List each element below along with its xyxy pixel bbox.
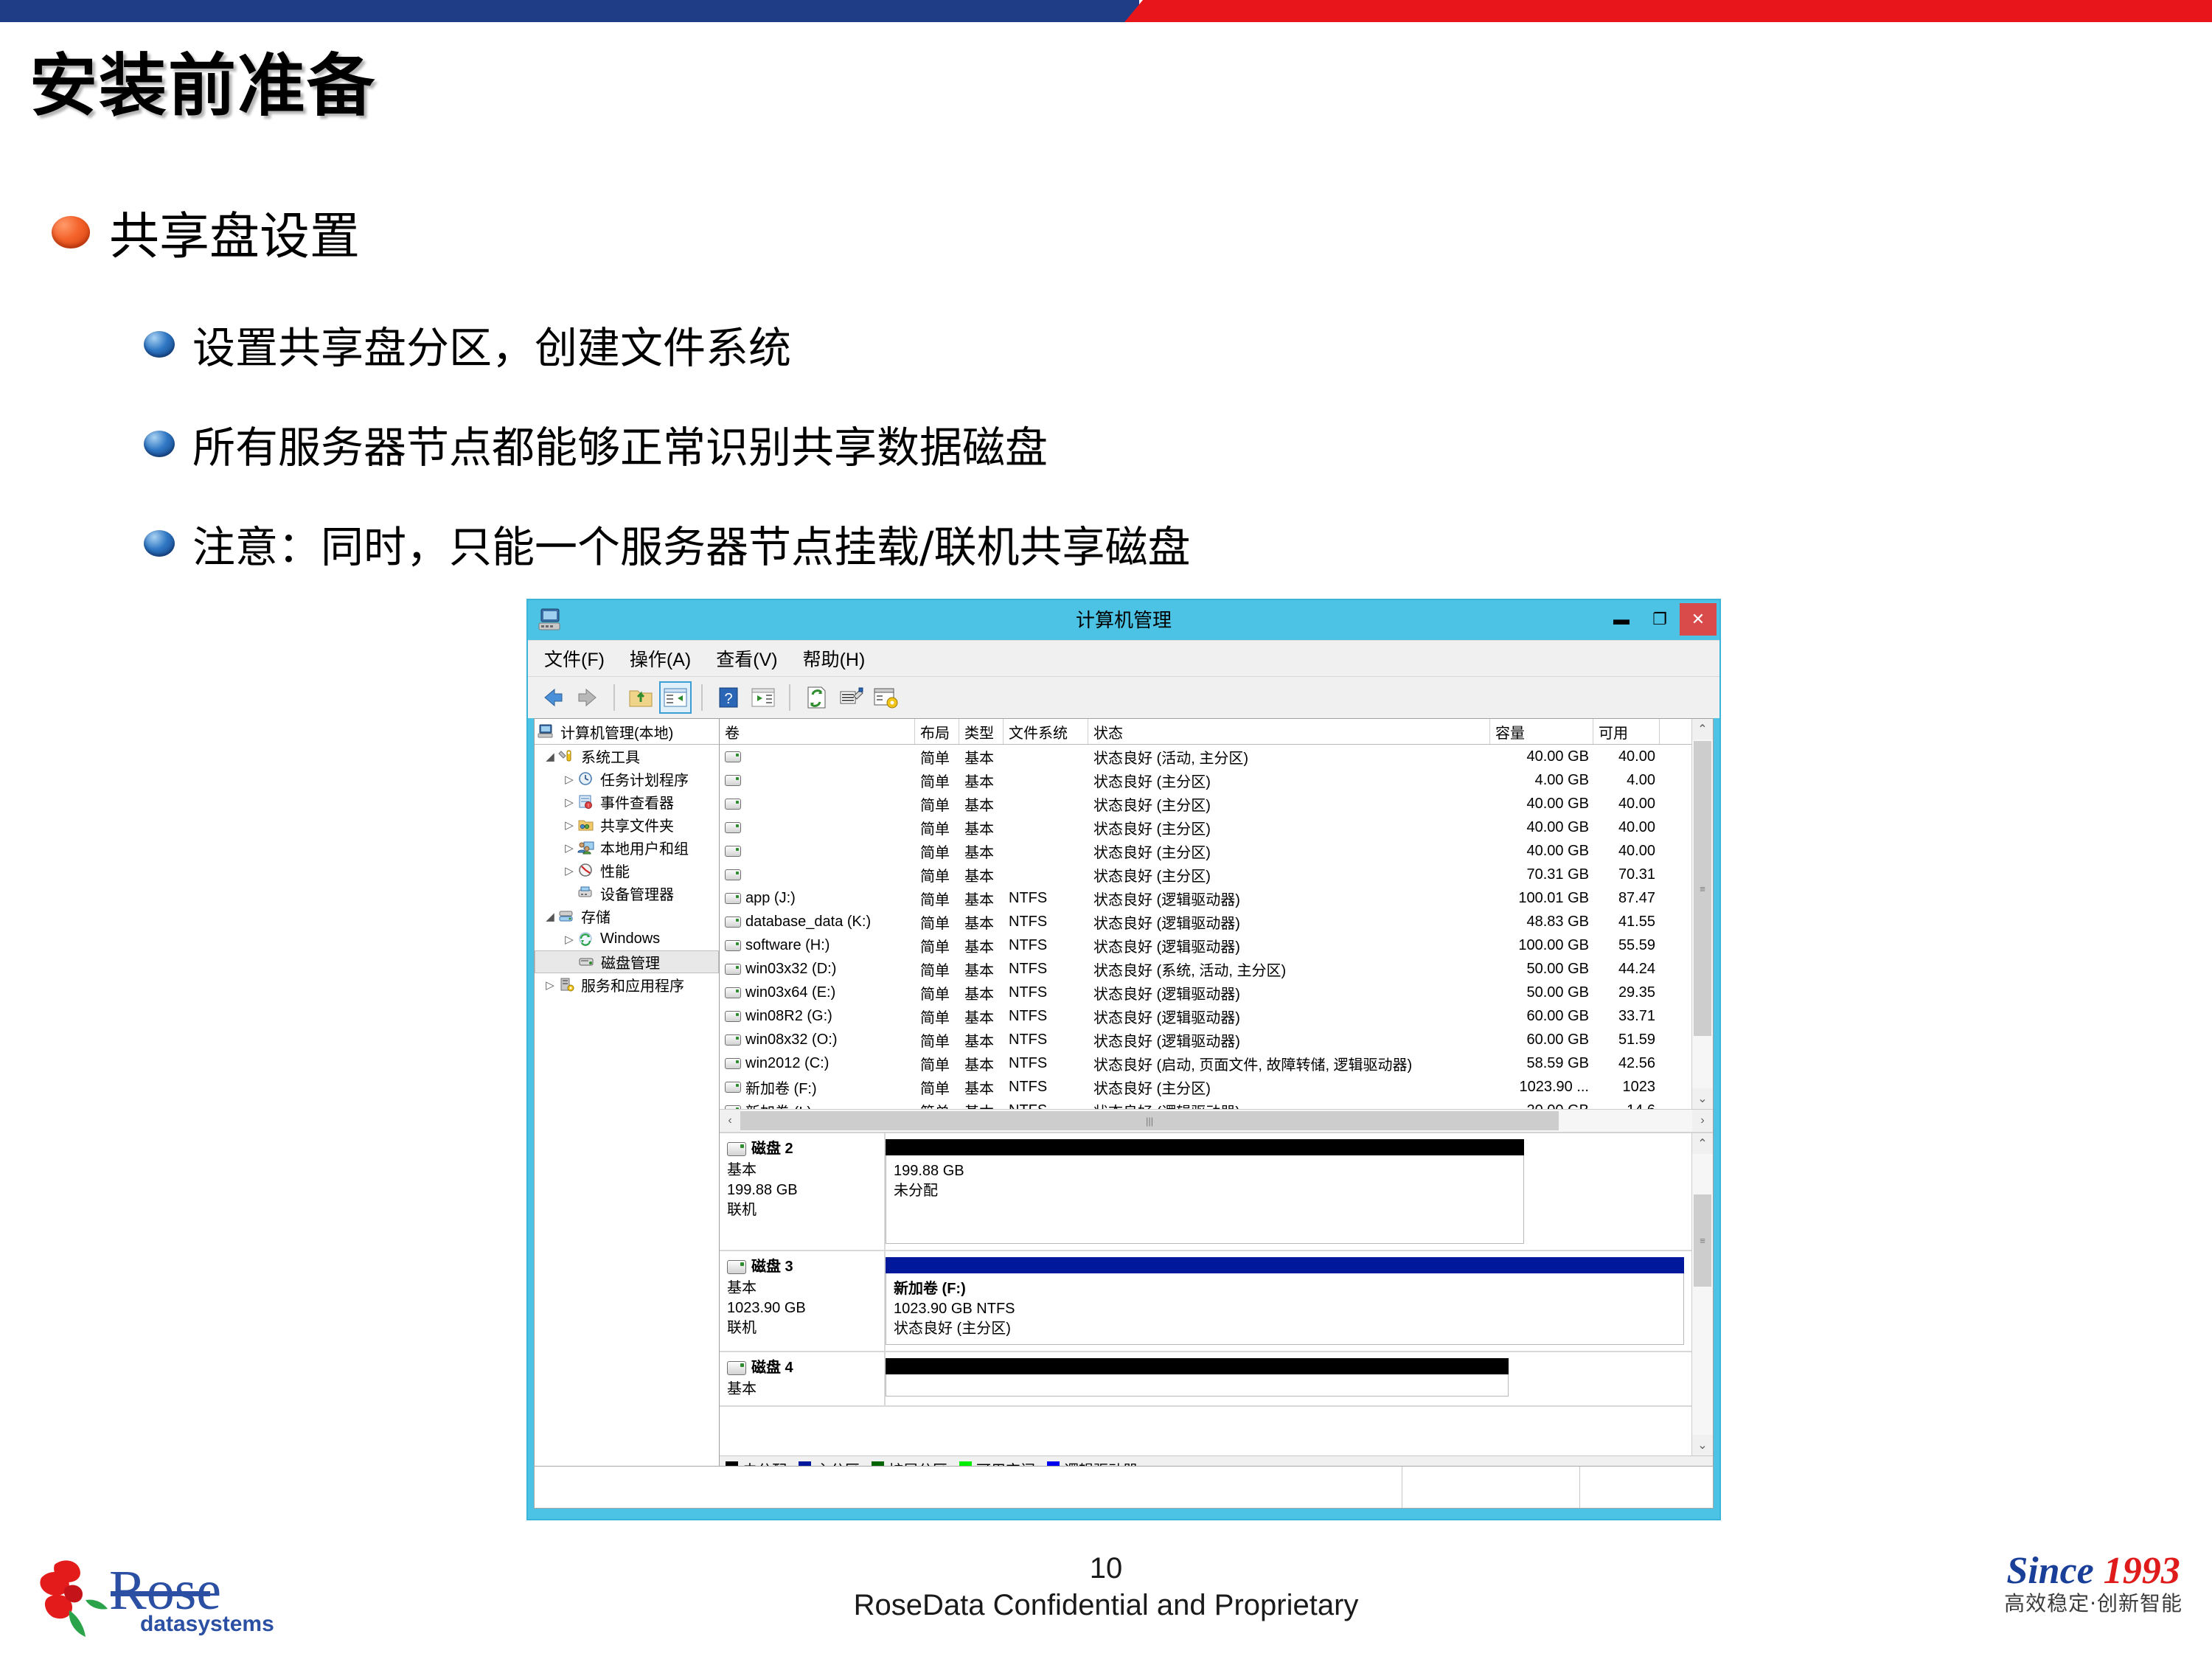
tree-item-label: 事件查看器 (600, 791, 674, 813)
main-split: 计算机管理(本地) ◢系统工具▷任务计划程序▷!事件查看器▷共享文件夹▷本地用户… (535, 719, 1713, 1481)
cell-name (720, 822, 915, 833)
collapsed-twisty-icon[interactable]: ▷ (561, 773, 577, 786)
maximize-button[interactable]: ❐ (1641, 603, 1678, 636)
show-console-tree-icon[interactable] (661, 683, 690, 712)
tree-root-label: 计算机管理(本地) (560, 721, 673, 742)
cell-free: 70.31 (1593, 866, 1660, 883)
cell-capacity: 100.00 GB (1490, 937, 1593, 954)
cell-type: 基本 (959, 959, 1004, 980)
close-button[interactable]: ✕ (1680, 603, 1717, 636)
volume-disk-icon (725, 822, 741, 833)
tree-root-node[interactable]: 计算机管理(本地) (535, 719, 719, 745)
tree-item-10[interactable]: ▷服务和应用程序 (535, 973, 719, 996)
table-row[interactable]: 新加卷 (F:)简单基本NTFS状态良好 (主分区)1023.90 ...102… (720, 1075, 1691, 1099)
disk-title: 磁盘 3 (727, 1257, 884, 1277)
volume-column-header-3[interactable]: 文件系统 (1004, 719, 1088, 744)
volume-column-header-2[interactable]: 类型 (959, 719, 1004, 744)
cell-type: 基本 (959, 1053, 1004, 1074)
window-controls: ▬ ❐ ✕ (1603, 603, 1717, 636)
expanded-twisty-icon[interactable]: ◢ (542, 750, 558, 763)
cell-status: 状态良好 (系统, 活动, 主分区) (1088, 959, 1490, 980)
disk-state-label: 联机 (727, 1200, 884, 1220)
clock-icon (577, 771, 597, 787)
partition-size: 1023.90 GB NTFS (894, 1299, 1676, 1319)
cell-layout: 简单 (915, 746, 959, 768)
disk-block-1[interactable]: 磁盘 3基本1023.90 GB联机新加卷 (F:)1023.90 GB NTF… (720, 1251, 1691, 1352)
cell-layout: 简单 (915, 864, 959, 886)
tree-item-label: Windows (600, 931, 660, 947)
table-row[interactable]: win2012 (C:)简单基本NTFS状态良好 (启动, 页面文件, 故障转储… (720, 1051, 1691, 1075)
volume-disk-icon (725, 846, 741, 857)
partition-color-bar (886, 1358, 1509, 1374)
cell-layout: 简单 (915, 982, 959, 1004)
disk-name-label: 磁盘 2 (751, 1139, 793, 1159)
disk-state-label: 联机 (727, 1318, 884, 1338)
status-cell-main (535, 1467, 1402, 1508)
confidentiality-notice: RoseData Confidential and Proprietary (0, 1589, 2212, 1622)
hscroll-thumb[interactable]: ||| (740, 1111, 1559, 1130)
expanded-twisty-icon[interactable]: ◢ (542, 910, 558, 923)
partition-color-bar (886, 1139, 1524, 1155)
table-row[interactable]: win08R2 (G:)简单基本NTFS状态良好 (逻辑驱动器)60.00 GB… (720, 1004, 1691, 1028)
tree-item-6[interactable]: 设备管理器 (535, 882, 719, 905)
partition-details: 新加卷 (F:)1023.90 GB NTFS状态良好 (主分区) (886, 1273, 1684, 1345)
since-year: 1993 (2104, 1550, 2180, 1592)
tree-item-list: ◢系统工具▷任务计划程序▷!事件查看器▷共享文件夹▷本地用户和组▷性能设备管理器… (535, 745, 719, 996)
disk-info-panel: 磁盘 3基本1023.90 GB联机 (720, 1251, 886, 1351)
tree-item-label: 存储 (581, 905, 611, 927)
cell-capacity: 100.01 GB (1490, 890, 1593, 907)
cell-type: 基本 (959, 817, 1004, 838)
forward-arrow-icon[interactable] (573, 683, 602, 712)
cell-capacity: 40.00 GB (1490, 796, 1593, 813)
page-title: 安装前准备 (29, 31, 376, 129)
menu-bar: 文件(F) 操作(A) 查看(V) 帮助(H) (528, 640, 1719, 676)
properties-icon[interactable] (836, 683, 866, 712)
tree-item-4[interactable]: ▷本地用户和组 (535, 836, 719, 859)
cell-type: 基本 (959, 793, 1004, 815)
cell-status: 状态良好 (逻辑驱动器) (1088, 1029, 1490, 1051)
volume-column-header-5[interactable]: 容量 (1490, 719, 1593, 744)
cell-capacity: 4.00 GB (1490, 772, 1593, 789)
vscroll-thumb[interactable]: ≡ (1694, 1194, 1711, 1287)
computer-icon (538, 723, 557, 740)
vscroll-track[interactable]: ≡ (1692, 1154, 1713, 1435)
cell-type: 基本 (959, 841, 1004, 862)
cell-free: 42.56 (1593, 1055, 1660, 1072)
disk-size-label: 199.88 GB (727, 1180, 884, 1200)
cell-name: 新加卷 (F:) (720, 1077, 915, 1098)
tree-item-8[interactable]: ▷Windows (535, 928, 719, 950)
bullet-blue-icon (144, 331, 175, 358)
tree-item-label: 任务计划程序 (600, 768, 689, 790)
cell-layout: 简单 (915, 1006, 959, 1027)
scroll-left-button[interactable]: ‹ (720, 1110, 740, 1132)
cell-type: 基本 (959, 1029, 1004, 1051)
volume-column-header-4[interactable]: 状态 (1088, 719, 1490, 744)
partition-status: 状态良好 (主分区) (894, 1319, 1676, 1339)
device-manager-icon (577, 886, 597, 902)
tree-item-7[interactable]: ◢存储 (535, 905, 719, 928)
cell-status: 状态良好 (逻辑驱动器) (1088, 1100, 1490, 1110)
since-slogan: 高效稳定·创新智能 (2004, 1593, 2183, 1614)
rescan-disks-icon[interactable] (871, 683, 900, 712)
users-icon (577, 840, 597, 856)
cell-type: 基本 (959, 982, 1004, 1004)
cell-fs: NTFS (1004, 961, 1088, 978)
menu-item-view[interactable]: 查看(V) (716, 645, 777, 672)
cell-capacity: 1023.90 ... (1490, 1079, 1593, 1096)
tree-item-1[interactable]: ▷任务计划程序 (535, 768, 719, 790)
cell-free: 51.59 (1593, 1032, 1660, 1048)
up-folder-icon[interactable] (626, 683, 655, 712)
cell-layout: 简单 (915, 888, 959, 909)
disk-title: 磁盘 4 (727, 1358, 884, 1378)
collapsed-twisty-icon[interactable]: ▷ (561, 933, 577, 946)
volume-disk-icon (725, 987, 741, 998)
volume-table-header[interactable]: 卷布局类型文件系统状态容量可用 (720, 719, 1691, 745)
cell-name: app (J:) (720, 890, 915, 907)
performance-icon (577, 863, 597, 879)
cell-layout: 简单 (915, 1029, 959, 1051)
cell-type: 基本 (959, 770, 1004, 791)
tree-item-label: 性能 (600, 860, 630, 881)
tree-item-label: 本地用户和组 (600, 837, 689, 858)
disk-size-label: 1023.90 GB (727, 1298, 884, 1318)
cell-capacity: 60.00 GB (1490, 1008, 1593, 1025)
bullet-level2-0: 设置共享盘分区，创建文件系统 (144, 313, 791, 375)
cell-type: 基本 (959, 746, 1004, 768)
disk-info-panel: 磁盘 4基本 (720, 1352, 886, 1405)
disk-list[interactable]: 磁盘 2基本199.88 GB联机199.88 GB未分配磁盘 3基本1023.… (720, 1133, 1691, 1455)
disk-view-vscrollbar[interactable]: ⌃ ≡ ⌄ (1691, 1133, 1713, 1455)
tree-item-2[interactable]: ▷!事件查看器 (535, 790, 719, 813)
status-cell-2 (1402, 1467, 1580, 1508)
toolbar-separator (789, 684, 790, 711)
cell-fs: NTFS (1004, 1032, 1088, 1048)
disk-management-icon (578, 954, 597, 970)
table-row[interactable]: 简单基本状态良好 (主分区)40.00 GB40.00 (720, 815, 1691, 839)
cell-name (720, 751, 915, 762)
status-cell-3 (1580, 1467, 1713, 1508)
bullet-blue-icon (144, 530, 175, 557)
tree-item-label: 设备管理器 (600, 883, 674, 904)
table-row[interactable]: 简单基本状态良好 (活动, 主分区)40.00 GB40.00 (720, 745, 1691, 768)
collapsed-twisty-icon[interactable]: ▷ (561, 864, 577, 877)
window-title: 计算机管理 (528, 600, 1719, 640)
since-1993-logo: Since 1993 高效稳定·创新智能 (2004, 1552, 2183, 1614)
cell-type: 基本 (959, 888, 1004, 909)
cell-layout: 简单 (915, 1100, 959, 1110)
window-body: 计算机管理(本地) ◢系统工具▷任务计划程序▷!事件查看器▷共享文件夹▷本地用户… (534, 718, 1714, 1482)
cell-name: win2012 (C:) (720, 1055, 915, 1072)
collapsed-twisty-icon[interactable]: ▷ (561, 796, 577, 809)
scroll-right-button[interactable]: › (1692, 1110, 1713, 1132)
help-icon[interactable]: ? (714, 683, 743, 712)
show-action-pane-icon[interactable] (748, 683, 778, 712)
cell-capacity: 48.83 GB (1490, 914, 1593, 931)
cell-layout: 简单 (915, 911, 959, 933)
cell-free: 33.71 (1593, 1008, 1660, 1025)
toolbar-separator (613, 684, 615, 711)
menu-item-help[interactable]: 帮助(H) (803, 645, 866, 672)
collapsed-twisty-icon[interactable]: ▷ (542, 978, 558, 992)
bullet-level2-1-label: 所有服务器节点都能够正常识别共享数据磁盘 (192, 413, 1048, 475)
cell-name: win03x64 (E:) (720, 984, 915, 1001)
partition-size: 199.88 GB (894, 1161, 1516, 1181)
hscroll-track[interactable]: ||| (740, 1110, 1692, 1132)
banner-red-stripe (1102, 0, 2212, 22)
volume-list-hscrollbar[interactable]: ‹ ||| › (720, 1109, 1713, 1132)
cell-name: win08R2 (G:) (720, 1008, 915, 1025)
cell-free: 1023 (1593, 1079, 1660, 1096)
tree-item-label: 磁盘管理 (601, 951, 660, 973)
cell-name: software (H:) (720, 937, 915, 954)
cell-free: 44.24 (1593, 961, 1660, 978)
volume-disk-icon (725, 1034, 741, 1046)
volume-disk-icon (725, 775, 741, 786)
table-row[interactable]: database_data (K:)简单基本NTFS状态良好 (逻辑驱动器)48… (720, 910, 1691, 933)
vscroll-track[interactable]: ≡ (1692, 740, 1713, 1088)
tools-icon (558, 748, 577, 765)
computer-management-window: 计算机管理 ▬ ❐ ✕ 文件(F) 操作(A) 查看(V) 帮助(H) (526, 599, 1721, 1520)
cell-type: 基本 (959, 1100, 1004, 1110)
partition-color-bar (886, 1257, 1684, 1273)
cell-status: 状态良好 (逻辑驱动器) (1088, 935, 1490, 956)
bullet-blue-icon (144, 431, 175, 457)
cell-fs: NTFS (1004, 1102, 1088, 1110)
partition-details: 199.88 GB未分配 (886, 1155, 1524, 1244)
volume-column-header-0[interactable]: 卷 (720, 719, 915, 744)
details-pane: 卷布局类型文件系统状态容量可用 简单基本状态良好 (活动, 主分区)40.00 … (720, 719, 1713, 1481)
table-row[interactable]: software (H:)简单基本NTFS状态良好 (逻辑驱动器)100.00 … (720, 933, 1691, 957)
disk-graphical-view: 磁盘 2基本199.88 GB联机199.88 GB未分配磁盘 3基本1023.… (720, 1133, 1713, 1455)
partition-status: 未分配 (894, 1181, 1516, 1201)
bullet-red-icon (52, 216, 90, 248)
cell-fs: NTFS (1004, 937, 1088, 954)
cell-name: win03x32 (D:) (720, 961, 915, 978)
tree-item-label: 系统工具 (581, 745, 640, 767)
cell-fs: NTFS (1004, 1079, 1088, 1096)
cell-status: 状态良好 (逻辑驱动器) (1088, 1006, 1490, 1027)
cell-free: 40.00 (1593, 819, 1660, 836)
partition-strip (886, 1352, 1691, 1405)
svg-text:!: ! (588, 804, 589, 809)
disk-info-panel: 磁盘 2基本199.88 GB联机 (720, 1133, 886, 1250)
tree-item-label: 共享文件夹 (600, 814, 674, 835)
window-titlebar[interactable]: 计算机管理 ▬ ❐ ✕ (528, 600, 1719, 640)
page-number: 10 (0, 1552, 2212, 1585)
volume-list-pane: 卷布局类型文件系统状态容量可用 简单基本状态良好 (活动, 主分区)40.00 … (720, 719, 1713, 1133)
bullet-level1-0: 共享盘设置 (52, 195, 360, 268)
cell-layout: 简单 (915, 793, 959, 815)
table-row[interactable]: app (J:)简单基本NTFS状态良好 (逻辑驱动器)100.01 GB87.… (720, 886, 1691, 910)
disk-icon (727, 1361, 746, 1375)
partition-0[interactable]: 新加卷 (F:)1023.90 GB NTFS状态良好 (主分区) (886, 1257, 1684, 1345)
table-row[interactable]: win03x32 (D:)简单基本NTFS状态良好 (系统, 活动, 主分区)5… (720, 957, 1691, 981)
cell-capacity: 40.00 GB (1490, 748, 1593, 765)
cell-capacity: 70.31 GB (1490, 866, 1593, 883)
cell-capacity: 20.00 GB (1490, 1102, 1593, 1110)
cell-free: 40.00 (1593, 843, 1660, 860)
disk-type-label: 基本 (727, 1380, 884, 1399)
cell-fs: NTFS (1004, 914, 1088, 931)
windows-backup-icon (577, 931, 597, 947)
cell-status: 状态良好 (逻辑驱动器) (1088, 982, 1490, 1004)
cell-fs: NTFS (1004, 890, 1088, 907)
bullet-level2-2: 注意：同时，只能一个服务器节点挂载/联机共享磁盘 (144, 512, 1191, 574)
volume-list-vscrollbar[interactable]: ⌃ ≡ ⌄ (1691, 719, 1713, 1109)
cell-status: 状态良好 (启动, 页面文件, 故障转储, 逻辑驱动器) (1088, 1053, 1490, 1074)
cell-type: 基本 (959, 935, 1004, 956)
cell-capacity: 58.59 GB (1490, 1055, 1593, 1072)
menu-item-action[interactable]: 操作(A) (630, 645, 691, 672)
volume-column-header-1[interactable]: 布局 (915, 719, 959, 744)
shared-folder-icon (577, 817, 597, 833)
volume-disk-icon (725, 1011, 741, 1022)
volume-disk-icon (725, 940, 741, 951)
partition-title: 新加卷 (F:) (894, 1279, 1676, 1299)
cell-name: database_data (K:) (720, 914, 915, 931)
table-row[interactable]: 简单基本状态良好 (主分区)70.31 GB70.31 (720, 863, 1691, 886)
cell-name: 新加卷 (I:) (720, 1100, 915, 1110)
refresh-icon[interactable] (801, 683, 831, 712)
cell-layout: 简单 (915, 841, 959, 862)
cell-layout: 简单 (915, 1077, 959, 1098)
toolbar: ? (528, 676, 1719, 718)
cell-status: 状态良好 (主分区) (1088, 817, 1490, 838)
cell-name (720, 775, 915, 786)
cell-layout: 简单 (915, 935, 959, 956)
volume-disk-icon (725, 799, 741, 810)
cell-capacity: 60.00 GB (1490, 1032, 1593, 1048)
tree-item-0[interactable]: ◢系统工具 (535, 745, 719, 768)
partition-0[interactable] (886, 1358, 1509, 1397)
services-icon (558, 977, 577, 993)
partition-0[interactable]: 199.88 GB未分配 (886, 1139, 1524, 1244)
table-row[interactable]: 新加卷 (I:)简单基本NTFS状态良好 (逻辑驱动器)20.00 GB14.6 (720, 1099, 1691, 1109)
disk-type-label: 基本 (727, 1161, 884, 1180)
cell-status: 状态良好 (逻辑驱动器) (1088, 888, 1490, 909)
cell-free: 41.55 (1593, 914, 1660, 931)
table-row[interactable]: 简单基本状态良好 (主分区)40.00 GB40.00 (720, 839, 1691, 863)
cell-type: 基本 (959, 1077, 1004, 1098)
cell-status: 状态良好 (逻辑驱动器) (1088, 911, 1490, 933)
scroll-down-button[interactable]: ⌄ (1692, 1088, 1713, 1109)
volume-disk-icon (725, 1058, 741, 1069)
cell-type: 基本 (959, 911, 1004, 933)
cell-layout: 简单 (915, 959, 959, 980)
banner-blue-stripe (0, 0, 1139, 22)
cell-status: 状态良好 (主分区) (1088, 864, 1490, 886)
cell-status: 状态良好 (主分区) (1088, 1077, 1490, 1098)
disk-block-0[interactable]: 磁盘 2基本199.88 GB联机199.88 GB未分配 (720, 1133, 1691, 1251)
cell-name: win08x32 (O:) (720, 1032, 915, 1048)
cell-free: 87.47 (1593, 890, 1660, 907)
cell-name (720, 799, 915, 810)
cell-status: 状态良好 (主分区) (1088, 841, 1490, 862)
table-row[interactable]: 简单基本状态良好 (主分区)4.00 GB4.00 (720, 768, 1691, 792)
volume-disk-icon (725, 869, 741, 880)
disk-name-label: 磁盘 3 (751, 1257, 793, 1277)
cell-free: 40.00 (1593, 796, 1660, 813)
cell-status: 状态良好 (主分区) (1088, 770, 1490, 791)
cell-layout: 简单 (915, 770, 959, 791)
tree-item-9[interactable]: 磁盘管理 (535, 950, 719, 973)
volume-disk-icon (725, 893, 741, 904)
bullet-level2-2-label: 注意：同时，只能一个服务器节点挂载/联机共享磁盘 (192, 512, 1191, 574)
volume-table-body[interactable]: 简单基本状态良好 (活动, 主分区)40.00 GB40.00简单基本状态良好 … (720, 745, 1691, 1109)
minimize-button[interactable]: ▬ (1603, 603, 1640, 636)
disk-name-label: 磁盘 4 (751, 1358, 793, 1378)
scroll-down-button[interactable]: ⌄ (1692, 1435, 1713, 1455)
cell-name (720, 869, 915, 880)
storage-icon (558, 908, 577, 925)
disk-title: 磁盘 2 (727, 1139, 884, 1159)
cell-capacity: 50.00 GB (1490, 984, 1593, 1001)
toolbar-separator (701, 684, 703, 711)
table-row[interactable]: 简单基本状态良好 (主分区)40.00 GB40.00 (720, 792, 1691, 815)
collapsed-twisty-icon[interactable]: ▷ (561, 818, 577, 832)
disk-icon (727, 1260, 746, 1274)
table-row[interactable]: win03x64 (E:)简单基本NTFS状态良好 (逻辑驱动器)50.00 G… (720, 981, 1691, 1004)
volume-disk-icon (725, 1082, 741, 1093)
scroll-up-button[interactable]: ⌃ (1692, 719, 1713, 740)
partition-details (886, 1374, 1509, 1397)
volume-disk-icon (725, 917, 741, 928)
disk-icon (727, 1142, 746, 1156)
disk-block-2[interactable]: 磁盘 4基本 (720, 1352, 1691, 1407)
cell-layout: 简单 (915, 817, 959, 838)
cell-fs: NTFS (1004, 1055, 1088, 1072)
partition-strip: 新加卷 (F:)1023.90 GB NTFS状态良好 (主分区) (886, 1251, 1691, 1351)
cell-fs: NTFS (1004, 984, 1088, 1001)
volume-disk-icon (725, 751, 741, 762)
console-tree[interactable]: 计算机管理(本地) ◢系统工具▷任务计划程序▷!事件查看器▷共享文件夹▷本地用户… (535, 719, 720, 1481)
partition-strip: 199.88 GB未分配 (886, 1133, 1691, 1250)
tree-item-5[interactable]: ▷性能 (535, 859, 719, 882)
cell-name (720, 846, 915, 857)
cell-status: 状态良好 (主分区) (1088, 793, 1490, 815)
cell-free: 14.6 (1593, 1102, 1660, 1110)
volume-disk-icon (725, 1105, 741, 1110)
back-arrow-icon[interactable] (538, 683, 568, 712)
vscroll-thumb[interactable]: ≡ (1694, 741, 1711, 1036)
table-row[interactable]: win08x32 (O:)简单基本NTFS状态良好 (逻辑驱动器)60.00 G… (720, 1028, 1691, 1051)
volume-disk-icon (725, 964, 741, 975)
tree-item-3[interactable]: ▷共享文件夹 (535, 813, 719, 836)
volume-column-header-6[interactable]: 可用 (1593, 719, 1660, 744)
bullet-level1-0-label: 共享盘设置 (109, 195, 360, 268)
cell-free: 55.59 (1593, 937, 1660, 954)
cell-free: 40.00 (1593, 748, 1660, 765)
scroll-up-button[interactable]: ⌃ (1692, 1133, 1713, 1154)
status-bar (534, 1466, 1714, 1509)
cell-layout: 简单 (915, 1053, 959, 1074)
cell-type: 基本 (959, 1006, 1004, 1027)
cell-capacity: 40.00 GB (1490, 819, 1593, 836)
event-log-icon: ! (577, 794, 597, 810)
collapsed-twisty-icon[interactable]: ▷ (561, 841, 577, 855)
top-banner (0, 0, 2212, 22)
cell-free: 29.35 (1593, 984, 1660, 1001)
cell-capacity: 50.00 GB (1490, 961, 1593, 978)
bullet-level2-0-label: 设置共享盘分区，创建文件系统 (192, 313, 791, 375)
cell-type: 基本 (959, 864, 1004, 886)
cell-status: 状态良好 (活动, 主分区) (1088, 746, 1490, 768)
menu-item-file[interactable]: 文件(F) (544, 645, 605, 672)
cell-capacity: 40.00 GB (1490, 843, 1593, 860)
